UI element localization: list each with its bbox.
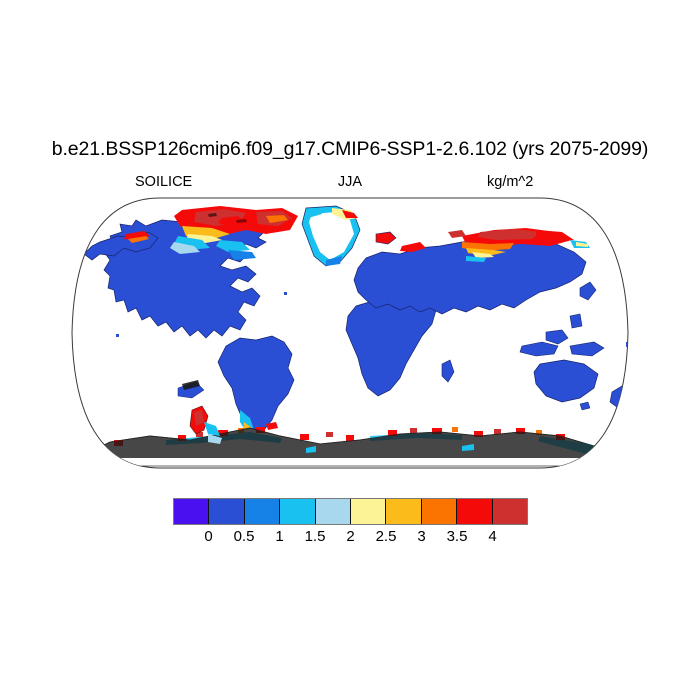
units-label: kg/m^2 xyxy=(487,174,533,190)
colorbar-segment-1[interactable] xyxy=(209,499,244,524)
colorbar-tick-4: 4 xyxy=(488,528,496,545)
colorbar[interactable] xyxy=(173,498,528,525)
colorbar-segment-5[interactable] xyxy=(351,499,386,524)
colorbar-tick-2: 2 xyxy=(346,528,354,545)
page-title: b.e21.BSSP126cmip6.f09_g17.CMIP6-SSP1-2.… xyxy=(0,138,700,161)
colorbar-tick-1: 1 xyxy=(275,528,283,545)
colorbar-segment-3[interactable] xyxy=(280,499,315,524)
colorbar-tick-3: 3 xyxy=(417,528,425,545)
colorbar-tick-0: 0 xyxy=(204,528,212,545)
colorbar-segment-4[interactable] xyxy=(316,499,351,524)
colorbar-segment-6[interactable] xyxy=(386,499,421,524)
colorbar-segment-8[interactable] xyxy=(457,499,492,524)
landmass-philippines xyxy=(570,314,582,328)
colorbar-segment-0[interactable] xyxy=(174,499,209,524)
colorbar-segment-2[interactable] xyxy=(245,499,280,524)
colorbar-segment-9[interactable] xyxy=(493,499,527,524)
figure-canvas: b.e21.BSSP126cmip6.f09_g17.CMIP6-SSP1-2.… xyxy=(0,0,700,700)
colorbar-tick-1.5: 1.5 xyxy=(305,528,326,545)
season-label: JJA xyxy=(0,174,700,190)
map-plot xyxy=(70,196,630,471)
colorbar-segment-7[interactable] xyxy=(422,499,457,524)
colorbar-tick-labels: 00.511.522.533.54 xyxy=(173,528,528,550)
colorbar-tick-2.5: 2.5 xyxy=(376,528,397,545)
colorbar-tick-0.5: 0.5 xyxy=(234,528,255,545)
world-map xyxy=(70,196,630,471)
colorbar-tick-3.5: 3.5 xyxy=(447,528,468,545)
